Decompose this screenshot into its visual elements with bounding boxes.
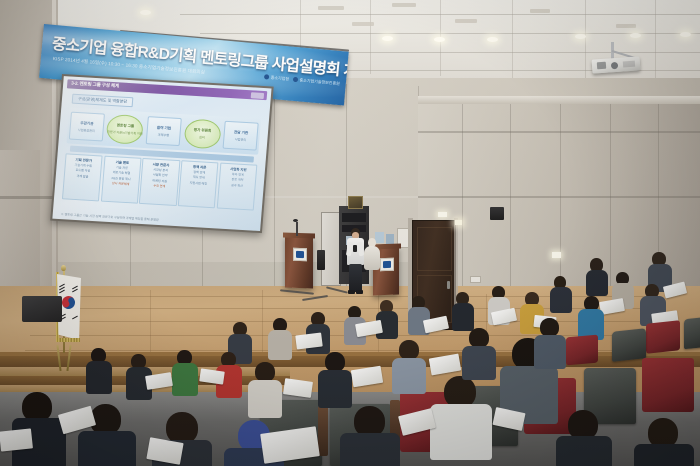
audience-torso xyxy=(268,330,292,360)
audience-torso xyxy=(550,287,572,313)
slide-node: 참여 기업 과제수행 xyxy=(146,116,182,146)
slide-column: 기술 멘토 기술 자문 애로기술 해결 R&D 방향 제시 상시 자문체계 xyxy=(101,156,142,204)
presenter-shoe xyxy=(348,290,355,294)
audience-torso xyxy=(534,335,566,369)
wall-light xyxy=(438,212,447,217)
wall-trim xyxy=(0,196,54,199)
audience-member xyxy=(550,276,572,312)
wall-plate xyxy=(470,276,481,283)
audience-head xyxy=(255,362,275,382)
audience-member xyxy=(534,318,566,366)
wall-trim xyxy=(418,196,700,198)
audience-member xyxy=(268,318,292,358)
slide-title: 3-2. 멘토링 그룹 구성 체계 xyxy=(71,81,119,90)
slide-column-title: 시장 전문가 xyxy=(153,162,170,168)
handout-booklet xyxy=(0,428,33,451)
stage-assistant xyxy=(362,238,382,278)
institute-logo-icon xyxy=(383,261,390,268)
slide-column: 기획 전문가 기술기획 수립 로드맵 작성 과제 발굴 xyxy=(62,153,103,201)
floor-speaker xyxy=(317,250,325,270)
audience-member xyxy=(586,258,608,294)
slide-node-note: 전문가 자문\n기술기획 지원 xyxy=(107,128,143,135)
auditorium-seat xyxy=(684,317,700,350)
slide-column-line: 로드맵 작성 xyxy=(75,168,90,173)
seminar-hall-photo: 중소기업 융합R&D기획 멘토링그룹 사업설명회 개최 KISP 2014년 4… xyxy=(0,0,700,466)
slide-node: 전담 기관 사업관리 xyxy=(223,121,259,151)
audience-torso xyxy=(392,358,426,394)
audience-torso xyxy=(78,431,136,466)
audience-torso xyxy=(586,270,608,296)
slide-node-note: 사업총괄관리 xyxy=(78,127,95,133)
slide-column-title: 정책 자문 xyxy=(193,164,207,170)
slide-column: 정책 자문 정책 연계 제도 안내 지원사업 매칭 xyxy=(178,160,219,208)
rack-slot xyxy=(342,213,366,222)
auditorium-seat xyxy=(646,320,680,354)
audience-member xyxy=(634,418,694,466)
slide-node-title: 멘토링 그룹 xyxy=(116,123,134,129)
wall-framed-picture xyxy=(348,196,363,209)
slide-column-line: 과제 발굴 xyxy=(76,174,88,179)
taeguk-circle-icon xyxy=(60,294,78,312)
podium-plaque xyxy=(380,258,394,271)
slide-column: 시장 전문가 시장성 분석 사업화 전략 마케팅 지원 수요 연계 xyxy=(139,158,180,206)
ceiling-downlight xyxy=(140,10,151,15)
audience-member xyxy=(462,328,496,376)
slide-logo-tag xyxy=(251,92,264,99)
slide-column-line: 성과 확산 xyxy=(231,183,243,188)
audience-torso xyxy=(318,370,352,408)
wall-cornice xyxy=(418,96,700,104)
presenter-trousers xyxy=(349,264,362,292)
slide-node-title: 전담 기관 xyxy=(234,130,249,136)
ceiling-seam xyxy=(370,0,371,74)
audience-member xyxy=(452,292,474,330)
audience-member xyxy=(340,406,400,466)
auditorium-seat xyxy=(642,358,694,412)
audience-torso xyxy=(634,444,694,466)
slide-bottom-row: 기획 전문가 기술기획 수립 로드맵 작성 과제 발굴 기술 멘토 기술 자문 … xyxy=(62,153,257,210)
ceiling-vent xyxy=(530,9,550,13)
audience-torso xyxy=(462,346,496,380)
audience-torso xyxy=(86,361,112,394)
door-handle[interactable] xyxy=(447,281,450,289)
projection-screen-frame: 3-2. 멘토링 그룹 구성 체계 구성(운영)체계도 및 역할분담 주관기관 … xyxy=(50,74,273,233)
assistant-torso xyxy=(364,246,380,270)
slide-node-title: 평가 위원회 xyxy=(194,127,212,133)
av-rack-left xyxy=(321,212,341,286)
auditorium-seat xyxy=(566,335,598,366)
ceiling-downlight xyxy=(382,36,393,41)
audience-torso xyxy=(248,380,282,418)
projector-vent xyxy=(623,61,635,68)
floor-plank xyxy=(150,290,151,352)
audience-torso xyxy=(556,436,612,466)
projector-lens xyxy=(611,61,618,68)
ceiling-downlight xyxy=(630,33,641,38)
audience-head xyxy=(399,340,419,360)
left-podium-top xyxy=(283,232,315,238)
slide-node-title: 주관기관 xyxy=(80,121,94,127)
av-monitor xyxy=(386,234,394,244)
ceiling-seam xyxy=(585,0,586,80)
slide-column-line: 애로기술 해결 xyxy=(113,171,131,176)
slide-column-title: 기술 멘토 xyxy=(116,159,130,165)
audience-member xyxy=(86,348,112,392)
door-light xyxy=(455,220,462,225)
slide-node: 멘토링 그룹 전문가 자문\n기술기획 지원 xyxy=(106,113,144,144)
slide-node: 주관기관 사업총괄관리 xyxy=(69,112,105,142)
projection-screen: 3-2. 멘토링 그룹 구성 체계 구성(운영)체계도 및 역할분담 주관기관 … xyxy=(52,76,271,231)
audience-torso xyxy=(430,404,492,460)
ceiling-downlight xyxy=(575,34,586,39)
ceiling-seam xyxy=(512,0,513,78)
audience-member xyxy=(430,376,492,458)
audience-head xyxy=(325,352,345,372)
audience-member xyxy=(248,362,282,414)
slide-column-title: 사업화 지원 xyxy=(230,166,247,172)
ceiling-seam xyxy=(200,33,700,34)
audience-torso xyxy=(340,433,400,466)
door-panel xyxy=(417,227,452,271)
stage-stored-object xyxy=(22,296,62,322)
audience-member xyxy=(392,340,426,390)
trigram-bar xyxy=(72,316,78,320)
audience-torso xyxy=(452,303,474,331)
slide-subtitle-chip: 구성(운영)체계도 및 역할분담 xyxy=(72,94,134,108)
banner-logo-label: 중소기업청 xyxy=(270,74,289,82)
left-podium xyxy=(285,236,313,289)
audience-head xyxy=(469,328,489,348)
ceiling-vent xyxy=(392,3,416,7)
ceiling-downlight xyxy=(680,32,691,37)
ceiling-vent xyxy=(318,6,344,10)
slide-node-note: 과제수행 xyxy=(158,131,170,137)
slide-node-note: 사업관리 xyxy=(235,136,247,142)
slide-column-title: 기획 전문가 xyxy=(75,157,92,163)
audience-member xyxy=(318,352,352,404)
slide-column-highlight: 수요 연계 xyxy=(153,183,165,188)
institute-logo-icon xyxy=(296,251,303,258)
slide-column: 사업화 지원 투자 연계 판로 개척 성과 확산 xyxy=(217,163,258,211)
slide-node-title: 참여 기업 xyxy=(157,125,172,131)
logo-mark-icon xyxy=(264,74,269,79)
slide-column-line: 사업화 전략 xyxy=(153,173,168,178)
projector-vent xyxy=(597,62,606,70)
slide-column-highlight: 상시 자문체계 xyxy=(112,181,130,186)
wall-trim xyxy=(418,131,700,133)
ceiling-seam xyxy=(655,0,656,82)
auditorium-seat xyxy=(612,328,646,362)
floor-plank xyxy=(262,290,263,352)
slide-column-line: 제도 안내 xyxy=(193,175,205,180)
wall-speaker xyxy=(490,207,504,220)
audience-member xyxy=(556,410,612,466)
logo-mark-icon xyxy=(293,77,298,82)
ceiling-vent xyxy=(616,24,636,28)
slide-node: 평가 위원회 심의 xyxy=(183,118,221,149)
slide-column-line: 지원사업 매칭 xyxy=(190,180,208,185)
flag-fringe xyxy=(58,338,80,342)
slide-node-note: 심의 xyxy=(199,134,205,139)
seat-armrest xyxy=(318,406,328,456)
wall-light xyxy=(552,252,561,258)
podium-plaque xyxy=(293,248,307,261)
presenter-shoe xyxy=(356,290,363,294)
ceiling-vent xyxy=(455,19,477,23)
ceiling-downlight xyxy=(487,37,498,42)
slide-column-line: 마케팅 지원 xyxy=(152,178,167,183)
slide-subtitle: 구성(운영)체계도 및 역할분담 xyxy=(78,96,127,105)
ceiling-downlight xyxy=(434,37,445,42)
microphone xyxy=(353,245,357,252)
audience-torso xyxy=(172,363,198,396)
slide-column-line: 판로 개척 xyxy=(231,178,243,183)
podium-microphone-head xyxy=(293,219,298,222)
slide-column-line: R&D 방향 제시 xyxy=(111,176,130,181)
ceiling-vent xyxy=(352,22,374,26)
podium-microphone-stem xyxy=(296,222,298,236)
audience-member xyxy=(172,350,198,394)
audience-member xyxy=(578,296,604,338)
